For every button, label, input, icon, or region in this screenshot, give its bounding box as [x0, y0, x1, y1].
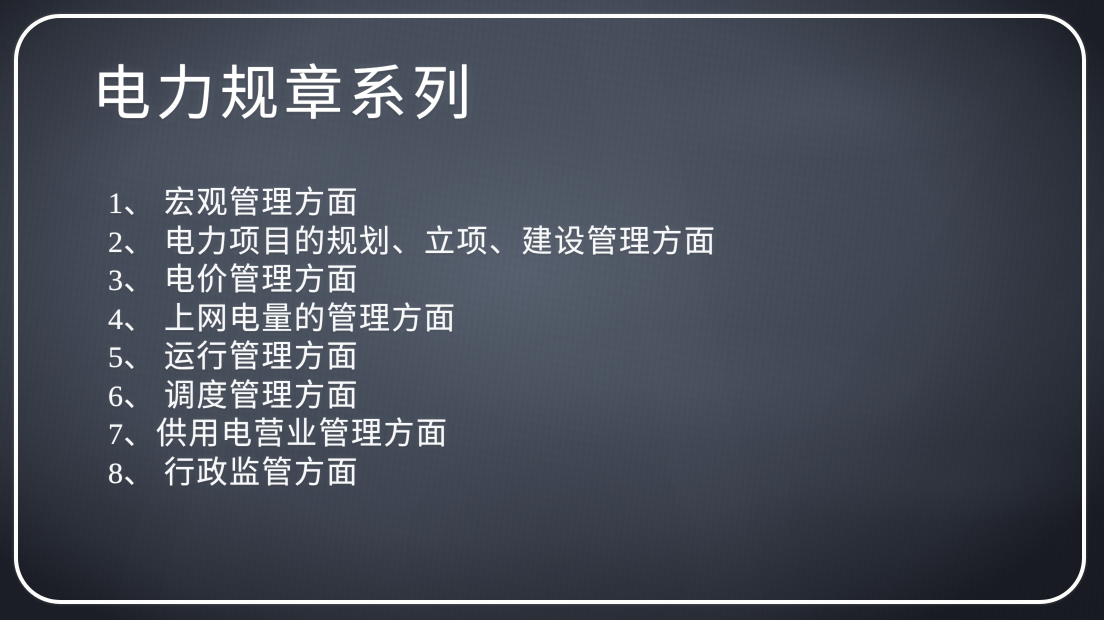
list-item-label: 调度管理方面: [164, 377, 359, 416]
list-item: 1、 宏观管理方面: [108, 184, 717, 223]
numbered-item-list: 1、 宏观管理方面 2、 电力项目的规划、立项、建设管理方面 3、 电价管理方面…: [108, 184, 717, 492]
list-item-label: 运行管理方面: [164, 338, 359, 377]
list-item-label: 电力项目的规划、立项、建设管理方面: [164, 223, 717, 262]
list-item-marker: 1、: [108, 185, 154, 224]
list-item-label: 上网电量的管理方面: [164, 300, 457, 339]
list-item-label: 宏观管理方面: [164, 184, 359, 223]
list-item-marker: 3、: [108, 262, 154, 301]
list-item: 8、 行政监管方面: [108, 454, 717, 493]
slide-content: 电力规章系列 1、 宏观管理方面 2、 电力项目的规划、立项、建设管理方面 3、…: [0, 0, 1104, 620]
list-item: 3、 电价管理方面: [108, 261, 717, 300]
list-item: 5、 运行管理方面: [108, 338, 717, 377]
presentation-slide: 电力规章系列 1、 宏观管理方面 2、 电力项目的规划、立项、建设管理方面 3、…: [0, 0, 1104, 620]
list-item: 4、 上网电量的管理方面: [108, 300, 717, 339]
list-item-marker: 4、: [108, 301, 154, 340]
list-item-marker: 6、: [108, 378, 154, 417]
list-item: 2、 电力项目的规划、立项、建设管理方面: [108, 223, 717, 262]
list-item-marker: 5、: [108, 339, 154, 378]
list-item-label: 供用电营业管理方面: [156, 415, 449, 454]
list-item-marker: 2、: [108, 224, 154, 263]
list-item: 7、 供用电营业管理方面: [108, 415, 717, 454]
list-item-marker: 7、: [108, 416, 154, 455]
slide-title: 电力规章系列: [92, 58, 476, 131]
list-item: 6、 调度管理方面: [108, 377, 717, 416]
list-item-label: 电价管理方面: [164, 261, 359, 300]
list-item-marker: 8、: [108, 455, 154, 494]
list-item-label: 行政监管方面: [164, 454, 359, 493]
